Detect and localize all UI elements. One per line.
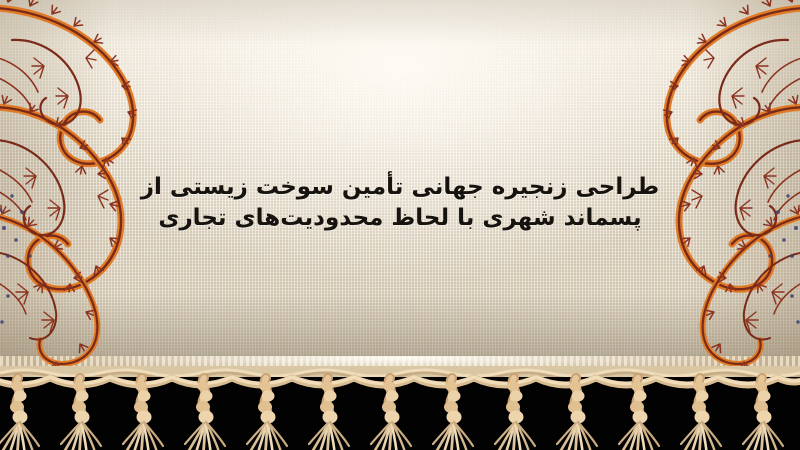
tassel-fringe — [0, 366, 800, 450]
title-line-1: طراحی زنجیره جهانی تأمین سوخت زیستی از — [0, 172, 800, 203]
slide-title: طراحی زنجیره جهانی تأمین سوخت زیستی از پ… — [0, 172, 800, 234]
title-line-2: پسماند شهری با لحاظ محدودیت‌های تجاری — [0, 203, 800, 234]
title-slide: طراحی زنجیره جهانی تأمین سوخت زیستی از پ… — [0, 0, 800, 450]
